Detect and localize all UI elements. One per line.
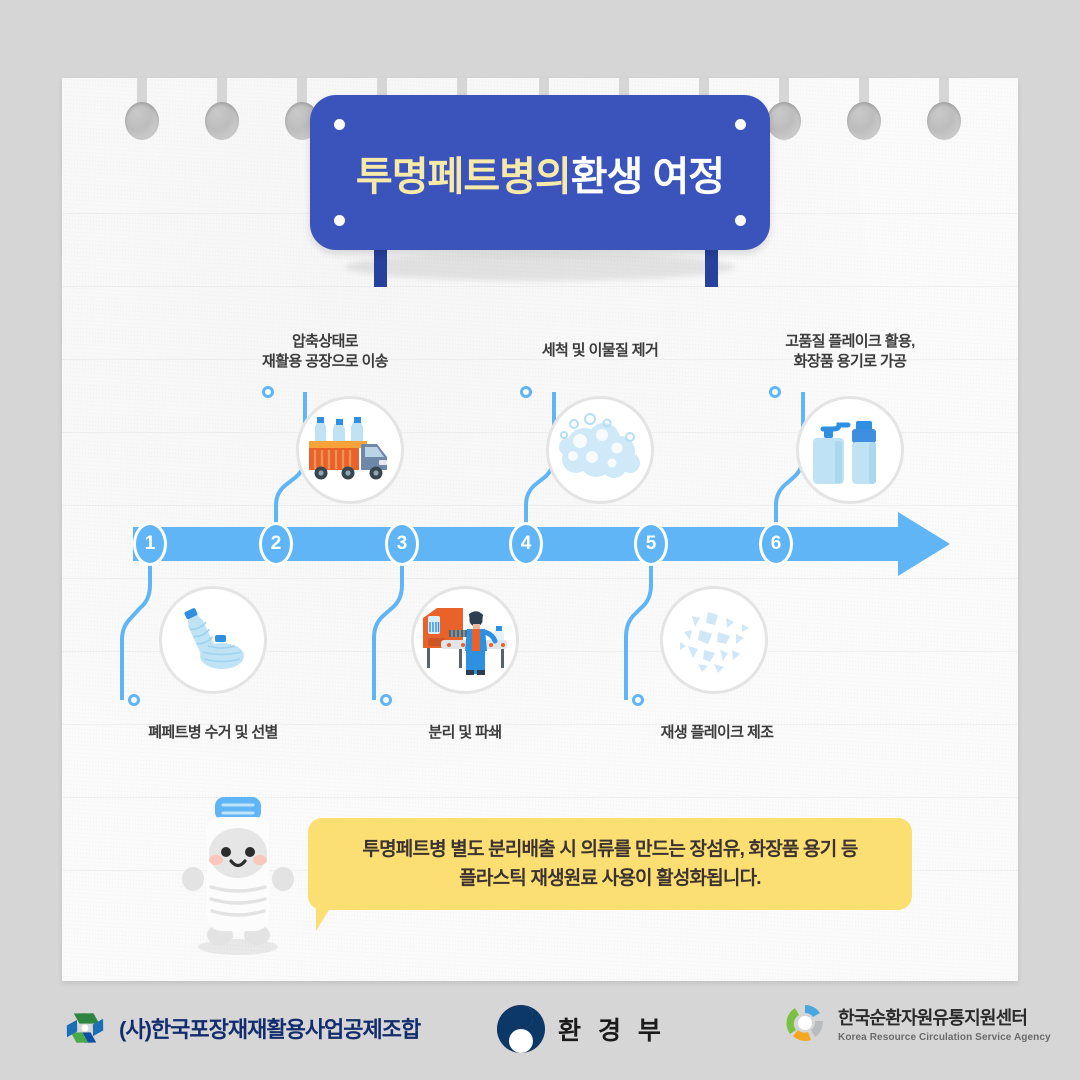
step-4-caption-text: 세척 및 이물질 제거 bbox=[542, 342, 658, 359]
sign-board: 투명페트병의환생 여정 bbox=[310, 95, 770, 250]
step-6-caption-text: 고품질 플레이크 활용, 화장품 용기로 가공 bbox=[785, 333, 915, 370]
step-2-caption: 압축상태로 재활용 공장으로 이송 bbox=[205, 332, 445, 373]
sign-dot-bottom-right bbox=[735, 215, 746, 226]
connector-endpoint bbox=[262, 386, 274, 398]
resource-circulation-logo-icon bbox=[783, 1001, 827, 1045]
cosmetic-bottles-icon bbox=[811, 409, 889, 491]
step-3-caption: 분리 및 파쇄 bbox=[345, 723, 585, 743]
step-number-4[interactable]: 4 bbox=[509, 522, 543, 566]
step-5-caption: 재생 플레이크 제조 bbox=[597, 723, 837, 743]
logo-krcsa-label-ko: 한국순환자원유통지원센터 bbox=[838, 1004, 1051, 1030]
pinwheel-recycle-logo-icon bbox=[62, 1005, 108, 1051]
conveyor-machine-worker-icon bbox=[419, 600, 511, 680]
connector-endpoint bbox=[632, 694, 644, 706]
connector-endpoint bbox=[380, 694, 392, 706]
logo-moe-label: 환 경 부 bbox=[558, 1011, 666, 1047]
step-number-5-label: 5 bbox=[646, 533, 657, 555]
timeline-arrowhead-icon bbox=[898, 512, 950, 576]
step-number-6[interactable]: 6 bbox=[759, 522, 793, 566]
step-number-4-label: 4 bbox=[521, 533, 532, 555]
sign-dot-bottom-left bbox=[334, 215, 345, 226]
pet-bottle-mascot-icon bbox=[175, 795, 300, 965]
step-number-5[interactable]: 5 bbox=[634, 522, 668, 566]
step-5-caption-text: 재생 플레이크 제조 bbox=[661, 724, 774, 741]
step-number-1[interactable]: 1 bbox=[133, 522, 167, 566]
step-2-icon-bubble[interactable] bbox=[296, 396, 404, 504]
step-number-1-label: 1 bbox=[145, 533, 156, 555]
step-number-3[interactable]: 3 bbox=[385, 522, 419, 566]
title-highlight-text: 투명페트병의 bbox=[356, 155, 571, 199]
korea-government-taegeuk-icon bbox=[495, 1003, 547, 1055]
step-2-caption-text: 압축상태로 재활용 공장으로 이송 bbox=[262, 333, 388, 370]
step-1-caption: 폐페트병 수거 및 선별 bbox=[93, 723, 333, 743]
crushed-pet-bottles-icon bbox=[170, 597, 256, 683]
pet-bottle-mascot bbox=[175, 795, 300, 965]
logo-kpra-label: (사)한국포장재재활용사업공제조합 bbox=[119, 1012, 420, 1044]
step-3-caption-text: 분리 및 파쇄 bbox=[428, 724, 501, 741]
step-1-caption-text: 폐페트병 수거 및 선별 bbox=[148, 724, 278, 741]
step-number-2-label: 2 bbox=[271, 533, 282, 555]
sign-shadow bbox=[345, 253, 735, 281]
logo-kpra: (사)한국포장재재활용사업공제조합 bbox=[62, 1005, 420, 1051]
step-6-caption: 고품질 플레이크 활용, 화장품 용기로 가공 bbox=[730, 332, 970, 373]
soap-bubbles-icon bbox=[556, 411, 644, 489]
sign-dot-top-right bbox=[735, 119, 746, 130]
step-5-icon-bubble[interactable] bbox=[660, 586, 768, 694]
plastic-flakes-icon bbox=[674, 604, 754, 676]
title-white-text: 환생 여정 bbox=[571, 155, 724, 199]
callout-text: 투명페트병 별도 분리배출 시 의류를 만드는 장섬유, 화장품 용기 등 플라… bbox=[362, 835, 857, 894]
logo-ministry-of-environment: 환 경 부 bbox=[495, 1003, 666, 1055]
page-title: 투명페트병의환생 여정 bbox=[356, 144, 724, 202]
step-number-2[interactable]: 2 bbox=[259, 522, 293, 566]
logo-krcsa: 한국순환자원유통지원센터 Korea Resource Circulation … bbox=[783, 1001, 1051, 1045]
step-1-icon-bubble[interactable] bbox=[159, 586, 267, 694]
connector-endpoint bbox=[769, 386, 781, 398]
step-6-icon-bubble[interactable] bbox=[796, 396, 904, 504]
dump-truck-with-bottles-icon bbox=[305, 412, 395, 488]
footer-logos: (사)한국포장재재활용사업공제조합 환 경 부 한국순환자원유통지원센터 Kor… bbox=[0, 983, 1080, 1080]
callout-box: 투명페트병 별도 분리배출 시 의류를 만드는 장섬유, 화장품 용기 등 플라… bbox=[308, 818, 912, 910]
sign-dot-top-left bbox=[334, 119, 345, 130]
connector-endpoint bbox=[520, 386, 532, 398]
title-sign: 투명페트병의환생 여정 bbox=[0, 95, 1080, 285]
step-3-icon-bubble[interactable] bbox=[411, 586, 519, 694]
step-number-3-label: 3 bbox=[397, 533, 408, 555]
step-4-caption: 세척 및 이물질 제거 bbox=[480, 341, 720, 361]
connector-endpoint bbox=[128, 694, 140, 706]
logo-krcsa-label-en: Korea Resource Circulation Service Agenc… bbox=[838, 1032, 1051, 1043]
step-number-6-label: 6 bbox=[771, 533, 782, 555]
step-4-icon-bubble[interactable] bbox=[546, 396, 654, 504]
